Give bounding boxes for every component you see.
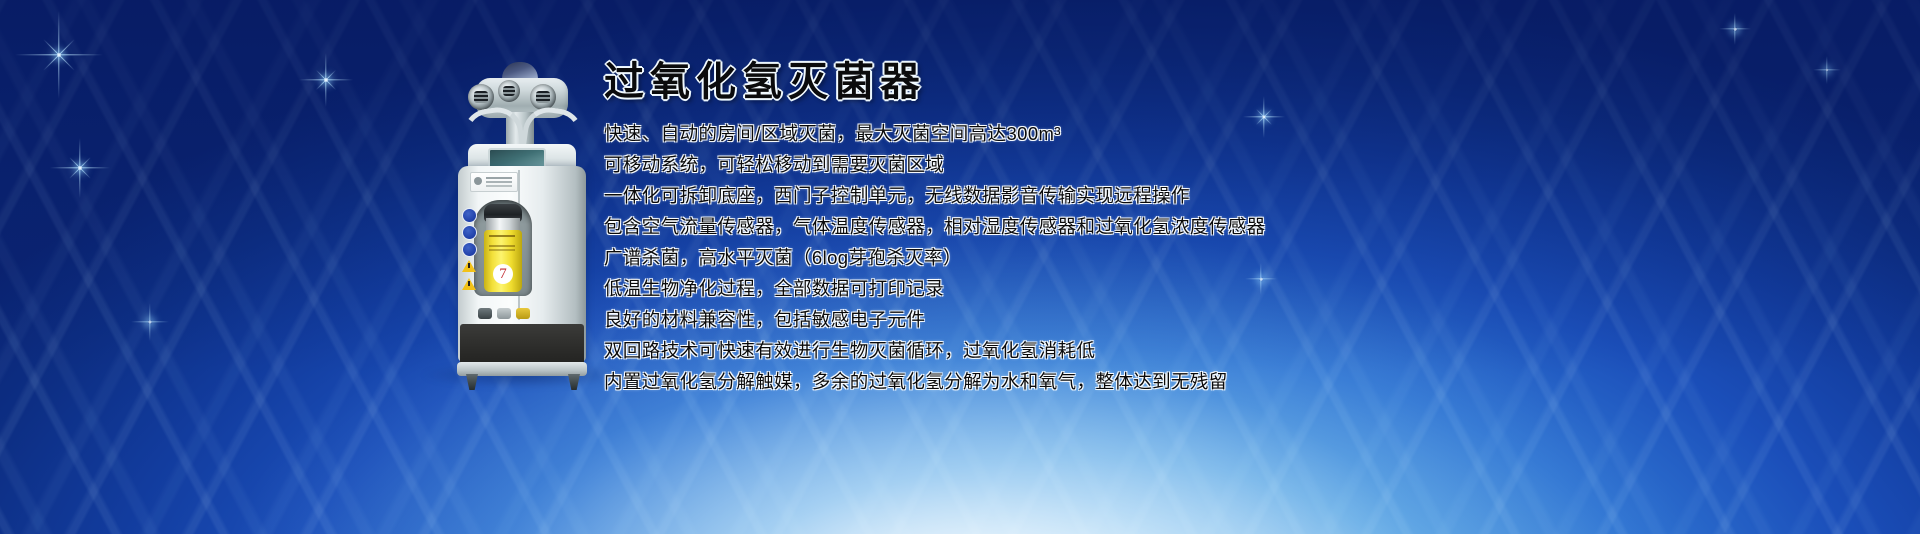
safety-sticker-icon (462, 242, 477, 257)
reagent-bottle: 7 (484, 230, 522, 292)
nozzle-icon (468, 84, 494, 110)
device-connectors (478, 308, 532, 322)
banner-copy: 过氧化氢灭菌器 快速、自动的房间/区域灭菌，最大灭菌空间高达300m³ 可移动系… (604, 60, 1864, 397)
bottle-number-label: 7 (493, 264, 513, 284)
promo-banner: 7 过氧化氢灭菌器 快速、自动的房间/区域灭菌，最大灭菌空间高达300m³ 可移… (0, 0, 1920, 534)
safety-sticker-icon (462, 225, 477, 240)
feature-line: 广谱杀菌，高水平灭菌（6log芽孢杀灭率） (604, 242, 1864, 273)
feature-line: 包含空气流量传感器，气体温度传感器，相对湿度传感器和过氧化氢浓度传感器 (604, 211, 1864, 242)
device-nameplate (470, 172, 518, 192)
nozzle-icon (530, 84, 556, 110)
feature-line: 一体化可拆卸底座，西门子控制单元，无线数据影音传输实现远程操作 (604, 180, 1864, 211)
warning-triangle-icon (462, 260, 476, 272)
feature-line: 良好的材料兼容性，包括敏感电子元件 (604, 304, 1864, 335)
feature-line: 可移动系统，可轻松移动到需要灭菌区域 (604, 149, 1864, 180)
feature-line: 内置过氧化氢分解触媒，多余的过氧化氢分解为水和氧气，整体达到无残留 (604, 366, 1864, 397)
nozzle-icon (498, 80, 520, 102)
feature-line: 双回路技术可快速有效进行生物灭菌循环，过氧化氢消耗低 (604, 335, 1864, 366)
product-title: 过氧化氢灭菌器 (604, 60, 1864, 104)
feature-line: 快速、自动的房间/区域灭菌，最大灭菌空间高达300m³ (604, 118, 1864, 149)
safety-sticker-icon (462, 208, 477, 223)
device-plinth (460, 324, 584, 366)
feature-line: 低温生物净化过程，全部数据可打印记录 (604, 273, 1864, 304)
device-base (457, 362, 587, 376)
warning-triangle-icon (462, 278, 476, 290)
sterilizer-device-image: 7 (440, 62, 610, 377)
